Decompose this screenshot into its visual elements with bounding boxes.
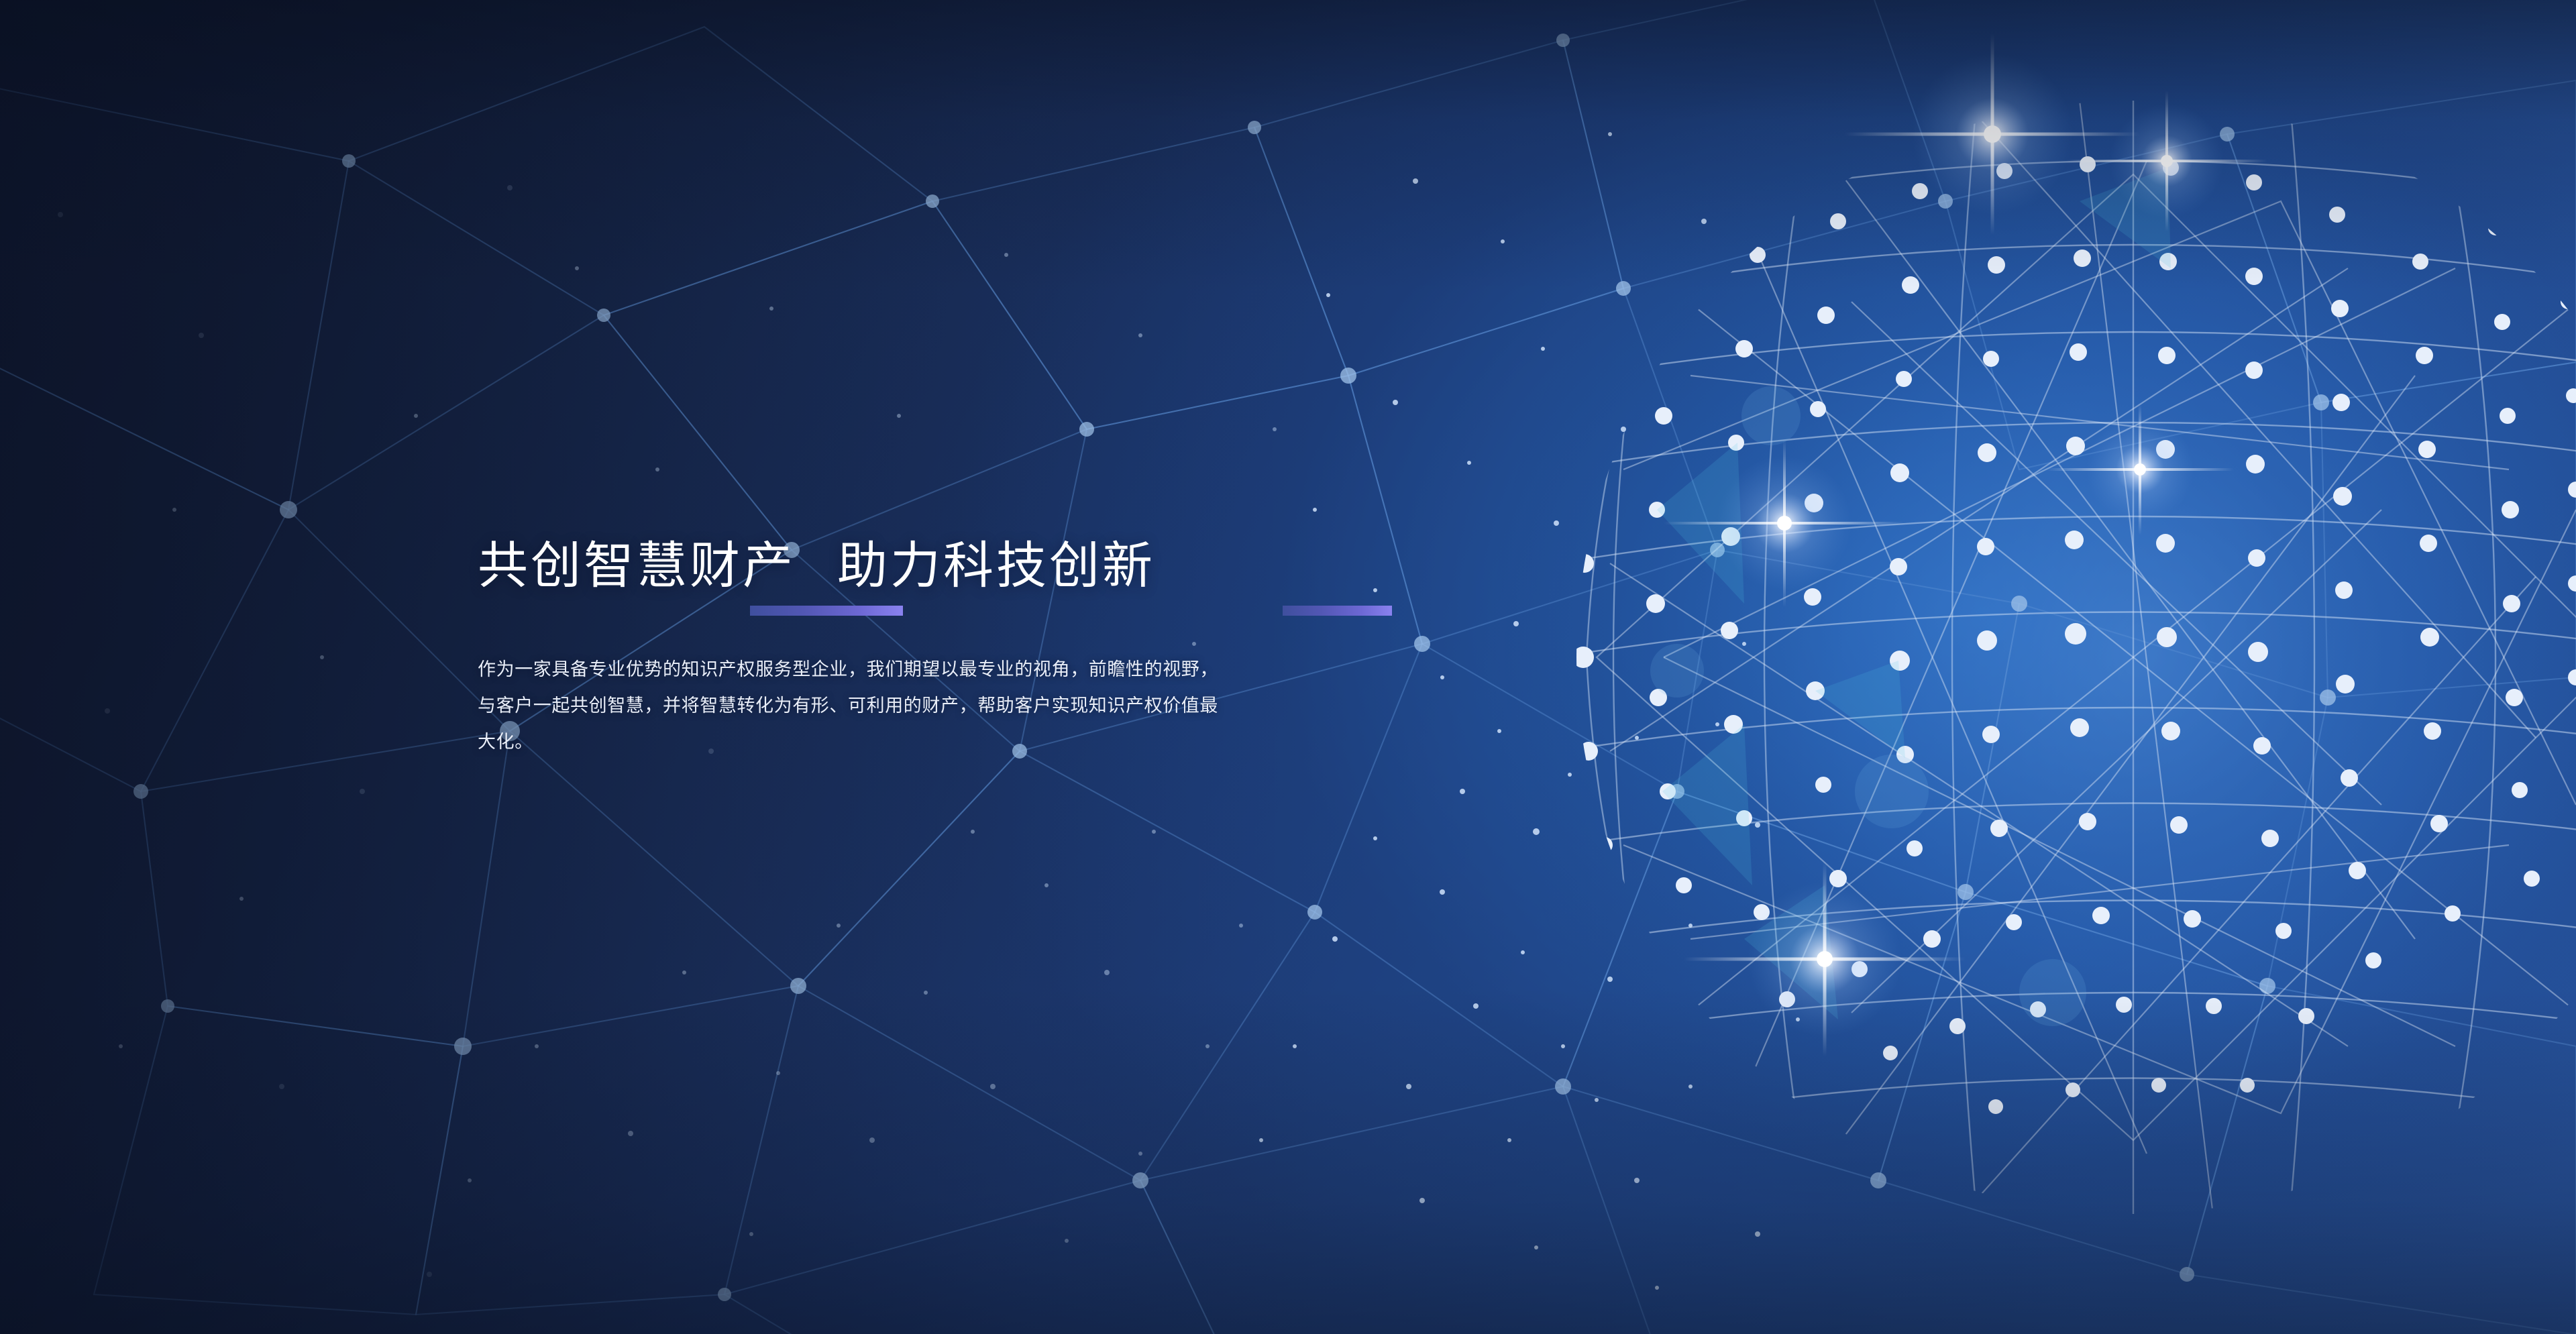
hero-content: 共创智慧财产助力科技创新 作为一家具备专业优势的知识产权服务型企业，我们期望以最… [478, 541, 1484, 778]
headline-segment-1: 共创智慧财产 [478, 541, 796, 591]
accent-underline-2 [1283, 606, 1392, 616]
accent-underline-1 [750, 606, 903, 616]
hero-banner: 共创智慧财产助力科技创新 作为一家具备专业优势的知识产权服务型企业，我们期望以最… [0, 0, 2576, 1334]
hero-description: 作为一家具备专业优势的知识产权服务型企业，我们期望以最专业的视角，前瞻性的视野，… [478, 651, 1236, 760]
page-title: 共创智慧财产助力科技创新 [478, 541, 1484, 591]
headline-segment-2: 助力科技创新 [837, 541, 1155, 591]
headline-accent-row [478, 606, 1417, 618]
